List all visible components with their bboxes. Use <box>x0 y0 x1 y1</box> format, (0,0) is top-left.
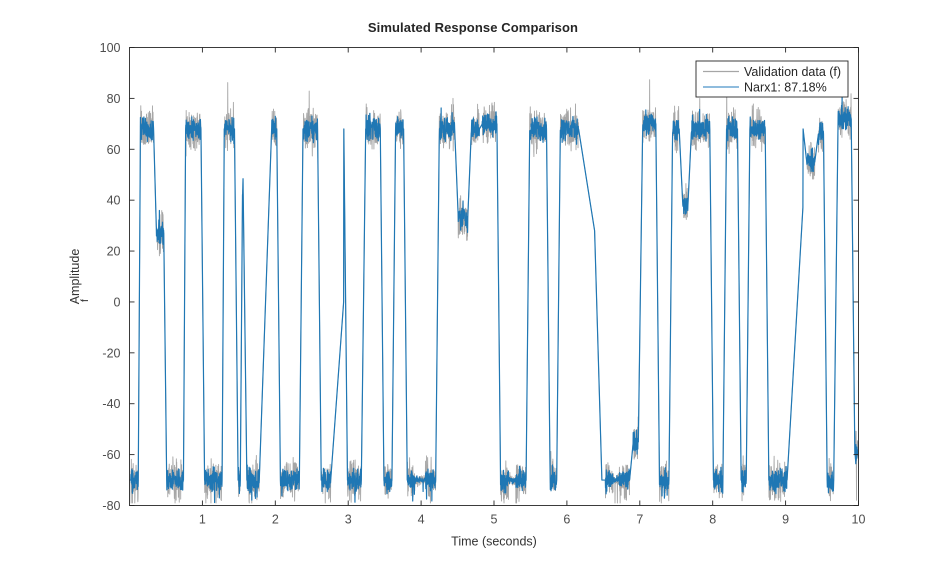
y-axis-tick-label: -80 <box>102 499 120 513</box>
legend-label-validation: Validation data (f) <box>744 65 841 79</box>
chart-legend[interactable]: Validation data (f)Narx1: 87.18% <box>696 61 848 97</box>
x-axis-tick-label: 10 <box>852 513 866 527</box>
y-axis-tick-label: -60 <box>102 448 120 462</box>
y-axis-tick-label: 0 <box>114 295 121 309</box>
y-axis-tick-label: 100 <box>100 41 121 55</box>
x-axis-tick-label: 5 <box>491 513 498 527</box>
figure-canvas: Simulated Response Comparison 1234567891… <box>0 0 946 569</box>
x-axis-tick-label: 8 <box>709 513 716 527</box>
x-axis-tick-label: 7 <box>636 513 643 527</box>
y-axis-title-subscript: f <box>79 299 91 302</box>
y-axis-tick-label: 80 <box>107 92 121 106</box>
y-axis-tick-label: -40 <box>102 397 120 411</box>
legend-label-narx1: Narx1: 87.18% <box>744 81 827 95</box>
x-axis-tick-label: 6 <box>563 513 570 527</box>
x-axis-tick-label: 3 <box>345 513 352 527</box>
x-axis-tick-label: 9 <box>782 513 789 527</box>
x-axis-tick-label: 2 <box>272 513 279 527</box>
y-axis-tick-label: 60 <box>107 143 121 157</box>
series-line-validation <box>130 80 859 503</box>
simulated-response-chart: 12345678910-80-60-40-20020406080100Time … <box>0 0 946 569</box>
x-axis-title: Time (seconds) <box>451 535 537 549</box>
series-line-narx1 <box>130 96 859 503</box>
y-axis-title: Amplitude <box>68 249 82 305</box>
x-axis-tick-label: 4 <box>418 513 425 527</box>
y-axis-tick-label: 20 <box>107 245 121 259</box>
y-axis-tick-label: -20 <box>102 346 120 360</box>
x-axis-tick-label: 1 <box>199 513 206 527</box>
y-axis-tick-label: 40 <box>107 194 121 208</box>
